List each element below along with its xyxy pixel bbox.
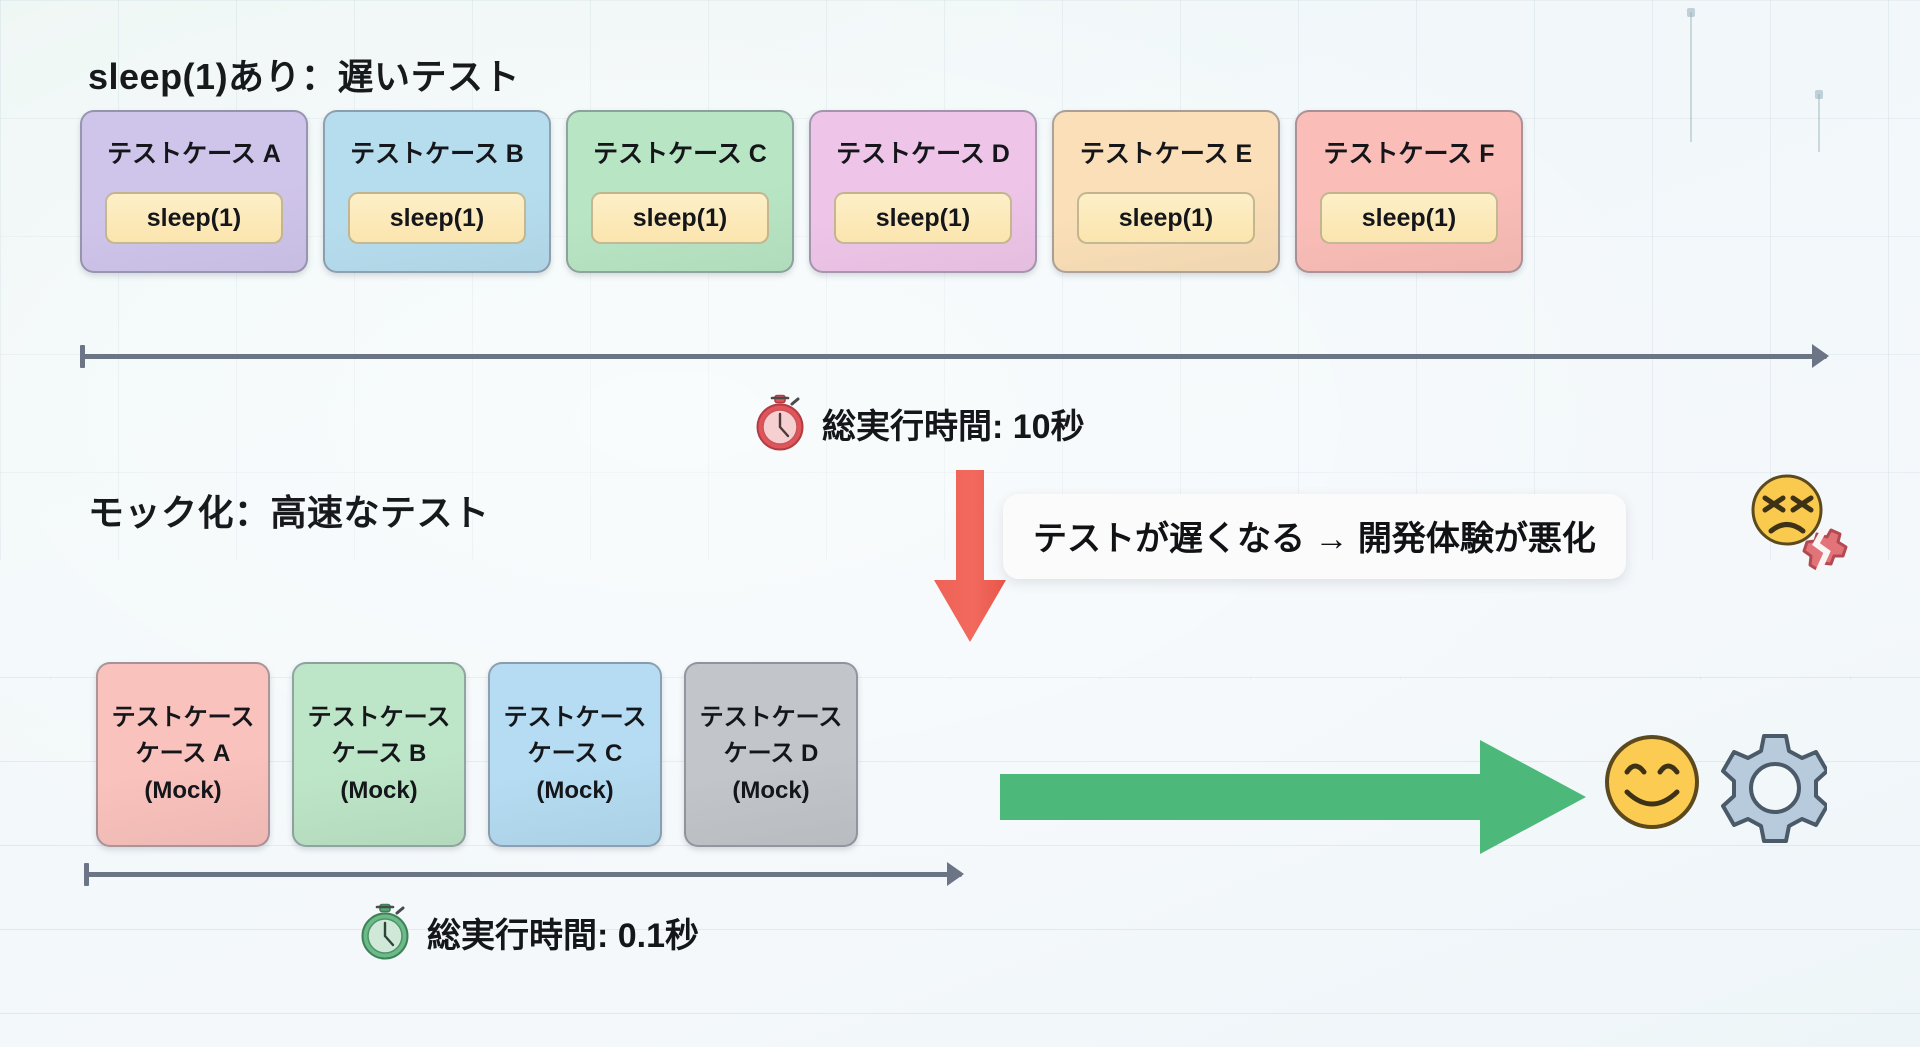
slow-test-case-card: テストケース Bsleep(1) (323, 110, 551, 273)
angry-reaction-cluster (1745, 468, 1865, 603)
mock-test-case-card: テストケースケース C(Mock) (488, 662, 662, 847)
slow-test-case-card: テストケース Asleep(1) (80, 110, 308, 273)
mock-case-line1: テストケース (504, 702, 647, 735)
mock-case-line3: (Mock) (340, 775, 417, 808)
mock-case-line2: ケース C (528, 738, 623, 771)
gear-icon (1723, 736, 1827, 841)
slow-case-label: テストケース E (1080, 134, 1252, 170)
angry-face-icon (1753, 476, 1821, 544)
slow-case-label: テストケース F (1324, 134, 1495, 170)
mock-case-line3: (Mock) (536, 775, 613, 808)
slow-case-label: テストケース A (107, 134, 281, 170)
sleep-call-box: sleep(1) (1077, 192, 1255, 244)
slow-case-label: テストケース B (350, 134, 524, 170)
sleep-call-box: sleep(1) (591, 192, 769, 244)
mock-case-line2: ケース D (724, 738, 819, 771)
fast-section-title: モック化：高速なテスト (88, 484, 490, 536)
mock-case-line2: ケース B (332, 738, 427, 771)
slow-case-label: テストケース C (593, 134, 767, 170)
timeline-bar (84, 872, 962, 877)
callout-box: テストが遅くなる → 開発体験が悪化 (1003, 494, 1626, 579)
diagram-canvas: sleep(1)あり：遅いテスト テストケース Asleep(1)テストケース … (0, 0, 1920, 1047)
slow-duration-label: 総実行時間: 10秒 (752, 394, 1085, 452)
slow-section-title: sleep(1)あり：遅いテスト (88, 48, 520, 100)
slow-case-label: テストケース D (836, 134, 1010, 170)
mock-case-line3: (Mock) (144, 775, 221, 808)
mock-case-line1: テストケース (308, 702, 451, 735)
mock-test-case-card: テストケースケース B(Mock) (292, 662, 466, 847)
grid-stem-a (1690, 12, 1692, 142)
timeline-bar (80, 354, 1827, 359)
timeline-arrowhead (947, 862, 964, 886)
mock-case-line3: (Mock) (732, 775, 809, 808)
slow-test-case-card: テストケース Fsleep(1) (1295, 110, 1523, 273)
mock-test-case-card: テストケースケース A(Mock) (96, 662, 270, 847)
arrow-down-icon (930, 470, 1010, 645)
mock-case-line2: ケース A (136, 738, 231, 771)
sleep-call-box: sleep(1) (1320, 192, 1498, 244)
slow-test-case-card: テストケース Esleep(1) (1052, 110, 1280, 273)
mock-test-case-card: テストケースケース D(Mock) (684, 662, 858, 847)
mock-test-case-row: テストケースケース A(Mock)テストケースケース B(Mock)テストケース… (96, 662, 858, 847)
slow-test-case-card: テストケース Csleep(1) (566, 110, 794, 273)
grid-stem-b (1818, 94, 1820, 152)
slow-duration-text: 総実行時間: 10秒 (822, 399, 1085, 448)
slow-timeline (80, 343, 1827, 369)
sleep-call-box: sleep(1) (105, 192, 283, 244)
fast-duration-text: 総実行時間: 0.1秒 (427, 908, 699, 957)
smiling-face-icon (1607, 737, 1697, 827)
fast-timeline (84, 861, 962, 887)
sleep-call-box: sleep(1) (348, 192, 526, 244)
callout-text: テストが遅くなる → 開発体験が悪化 (1033, 520, 1596, 558)
timeline-arrowhead (1812, 344, 1829, 368)
stopwatch-green-icon (357, 903, 413, 961)
sleep-call-box: sleep(1) (834, 192, 1012, 244)
mock-case-line1: テストケース (700, 702, 843, 735)
slow-test-case-card: テストケース Dsleep(1) (809, 110, 1037, 273)
happy-reaction-cluster (1597, 720, 1827, 870)
mock-case-line1: テストケース (112, 702, 255, 735)
slow-test-case-row: テストケース Asleep(1)テストケース Bsleep(1)テストケース C… (80, 110, 1523, 273)
stopwatch-red-icon (752, 394, 808, 452)
arrow-right-icon (1000, 736, 1590, 858)
fast-duration-label: 総実行時間: 0.1秒 (357, 903, 699, 961)
